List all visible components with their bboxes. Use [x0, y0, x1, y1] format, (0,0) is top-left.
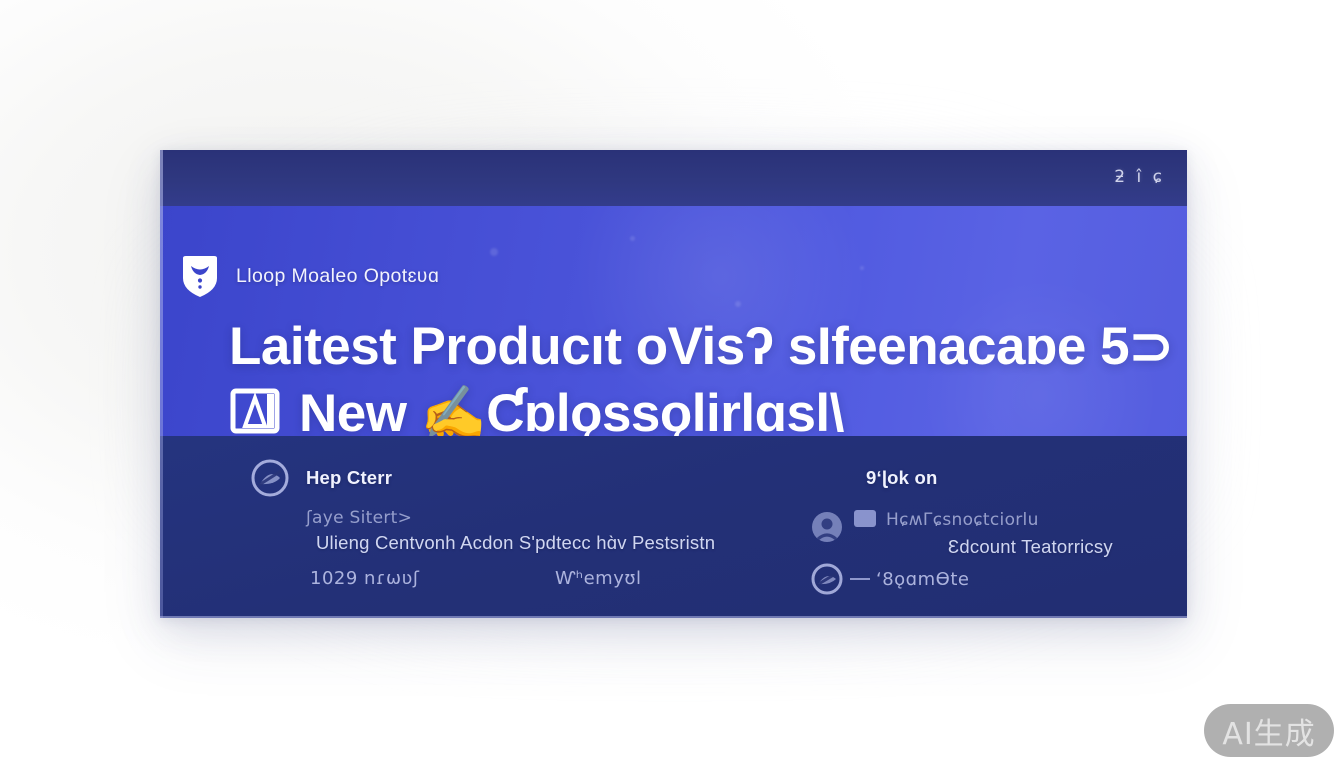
decorative-speck [860, 266, 864, 270]
feature-left-body: Ulieng Centvonh Acdon S'pdtecc hɑ̀v Pest… [316, 532, 715, 554]
feature-column-left[interactable]: Hep Cterr ʃaye Sitert> Ulieng Centvonh A… [250, 458, 810, 554]
shield-badge-icon [180, 254, 220, 299]
bottom-item[interactable]: Ⱳʰemyʊl [555, 568, 641, 589]
promo-banner-card[interactable]: ƻ î ɕ Lloop Moaleo Opotɛʋɑ Laitest Produ… [160, 150, 1187, 618]
feature-left-subtext: ʃaye Sitert> [306, 508, 810, 528]
bottom-dash [850, 578, 870, 580]
feature-column-right[interactable]: 9ʻɭok on HɕʍΓɕsnoɕtciorlu Ɛdcount Teator… [810, 458, 1170, 558]
chip-block [854, 510, 876, 527]
feature-bottom-strip: 1029 nɾωʋʃ Ⱳʰemyʊl ʻ8ǫɑmϴte [160, 554, 1187, 618]
bottom-item[interactable]: 1029 nɾωʋʃ [310, 568, 419, 589]
feature-left-title: Hep Cterr [306, 467, 392, 489]
brand-name-label: Lloop Moaleo Opotɛʋɑ [236, 265, 439, 288]
feature-right-texts: HɕʍΓɕsnoɕtciorlu Ɛdcount Teatorricsy [886, 510, 1113, 558]
feature-right-title: 9ʻɭok on [866, 467, 938, 489]
headline-line-2-text: New ✍Ƈɒlǫssǫlirlɑsl\ [299, 380, 844, 436]
card-top-bar: ƻ î ɕ [160, 150, 1187, 206]
ai-generated-label: AI生成 [1222, 709, 1315, 753]
bottom-item-label: ʻ8ǫɑmϴte [876, 569, 969, 590]
decorative-speck [490, 248, 498, 256]
feature-right-body-1: HɕʍΓɕsnoɕtciorlu [886, 510, 1113, 530]
brand-row[interactable]: Lloop Moaleo Opotɛʋɑ [180, 254, 439, 299]
top-bar-glyph-marks[interactable]: ƻ î ɕ [1114, 167, 1165, 187]
feature-left-header: Hep Cterr [250, 458, 810, 498]
user-circle-icon [810, 510, 844, 544]
hero-headline-block: Laitest Producıt oVisʔ sΙfeenacaɒe 5⊃ Ne… [229, 313, 1159, 436]
circle-slash-icon [810, 562, 844, 596]
feature-left-body-row: Ulieng Centvonh Acdon S'pdtecc hɑ̀v Pest… [316, 532, 810, 554]
feature-right-header: 9ʻɭok on [810, 458, 1170, 498]
headline-line-2-row: New ✍Ƈɒlǫssǫlirlɑsl\ [229, 380, 1159, 436]
ai-generated-watermark: AI生成 [1204, 704, 1334, 757]
decorative-speck [735, 301, 741, 307]
feature-band: Hep Cterr ʃaye Sitert> Ulieng Centvonh A… [160, 436, 1187, 618]
bottom-item[interactable]: ʻ8ǫɑmϴte [810, 562, 969, 596]
bottom-item-label: Ⱳʰemyʊl [555, 568, 641, 589]
feature-right-stack: HɕʍΓɕsnoɕtciorlu Ɛdcount Teatorricsy [810, 510, 1170, 558]
bottom-item-label: 1029 nɾωʋʃ [310, 568, 419, 589]
headline-line-1: Laitest Producıt oVisʔ sΙfeenacaɒe 5⊃ [229, 313, 1159, 380]
ai-square-icon [229, 388, 281, 437]
hero-band: Lloop Moaleo Opotɛʋɑ Laitest Producıt oV… [160, 206, 1187, 436]
circle-slash-icon [250, 458, 290, 498]
decorative-speck [630, 236, 635, 241]
